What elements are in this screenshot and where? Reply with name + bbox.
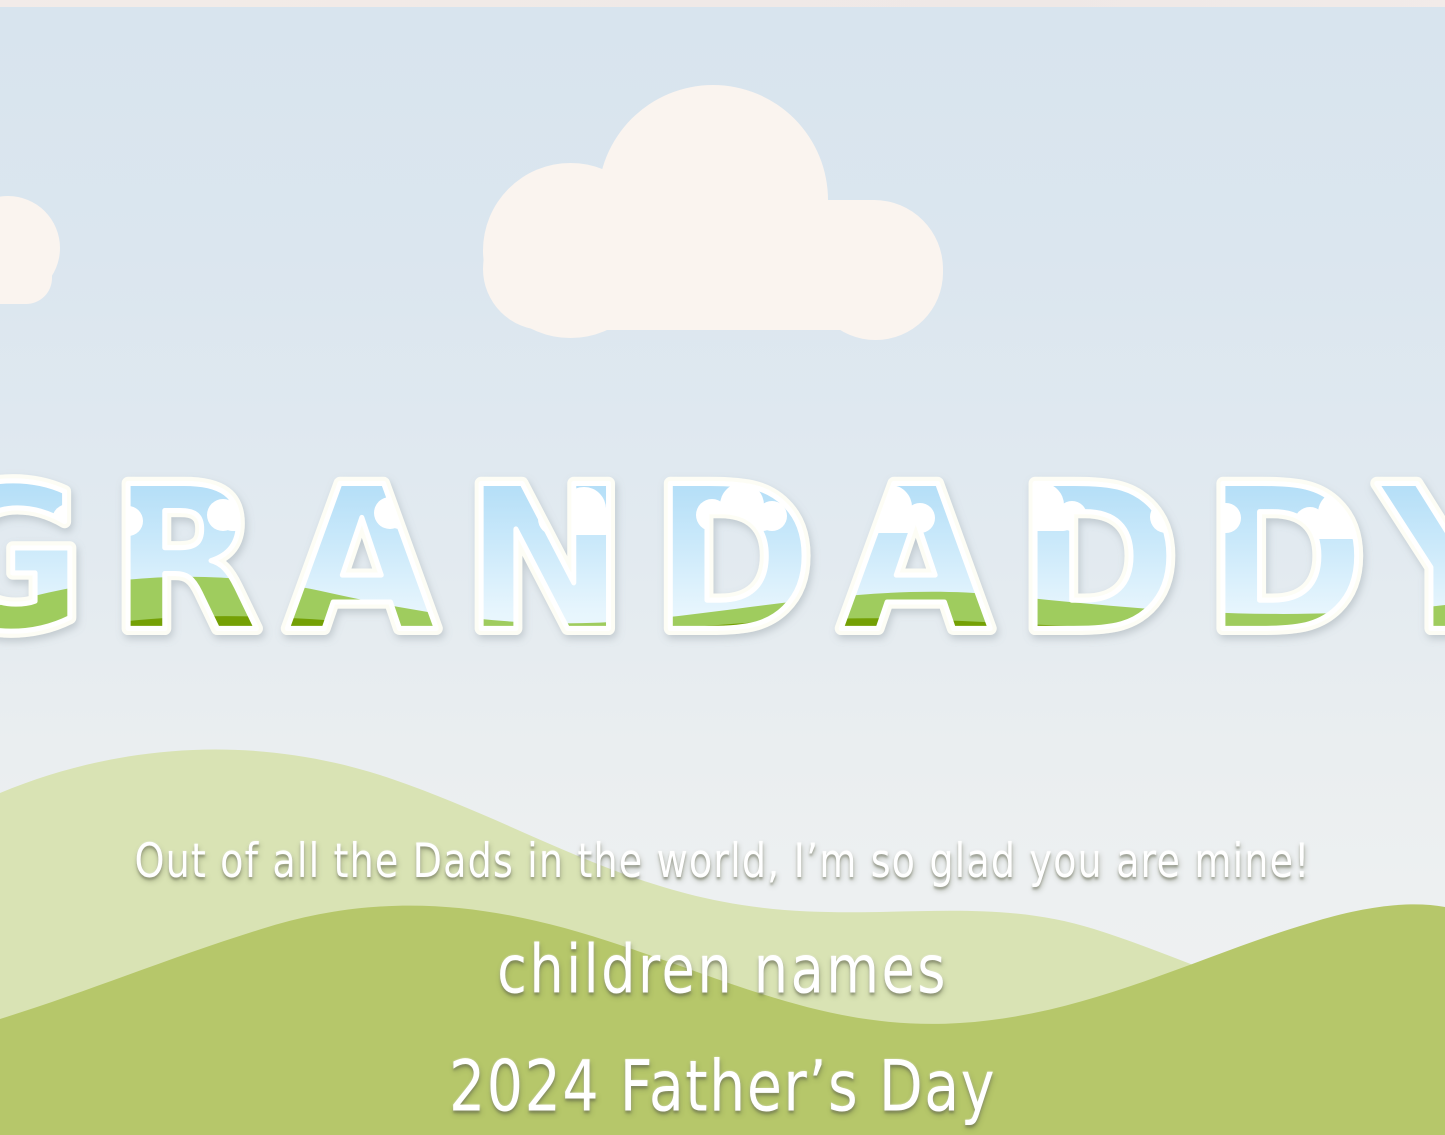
cloud-lobe	[808, 205, 943, 340]
occasion-text: 2024 Father’s Day	[36, 1046, 1409, 1129]
top-edge-strip	[0, 0, 1445, 7]
cloud-lobe	[483, 163, 658, 338]
cloud-icon-main	[483, 85, 943, 330]
page-title: GRANDADDY GRANDADDY	[0, 455, 1445, 670]
fathers-day-card: GRANDADDY GRANDADDY	[0, 0, 1445, 1135]
headline-text: GRANDADDY	[0, 455, 1445, 670]
tagline-text: Out of all the Dads in the world, I’m so…	[51, 833, 1395, 889]
children-names-text: children names	[36, 931, 1409, 1009]
headline-graphic: GRANDADDY GRANDADDY	[0, 455, 1445, 670]
cloud-icon-left-base	[0, 250, 52, 304]
